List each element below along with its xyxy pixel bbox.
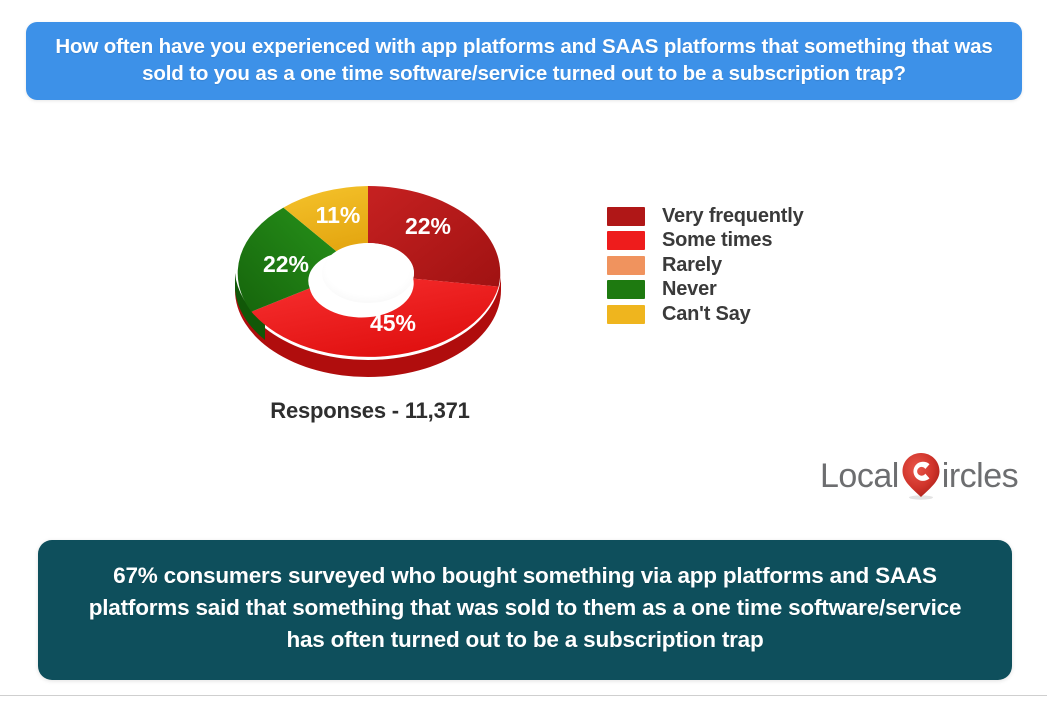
legend-label: Rarely [662, 254, 722, 277]
slice-label-never: 22% [263, 251, 309, 277]
legend-swatch-icon [607, 256, 645, 275]
slice-label-very-frequently: 22% [405, 213, 451, 239]
legend-label: Never [662, 278, 717, 301]
legend-item-rarely: Rarely [607, 253, 804, 278]
legend-label: Some times [662, 229, 772, 252]
legend-label: Can't Say [662, 303, 751, 326]
legend-swatch-icon [607, 280, 645, 299]
donut-hole [322, 243, 414, 303]
legend-swatch-icon [607, 231, 645, 250]
conclusion-text: 67% consumers surveyed who bought someth… [72, 560, 978, 656]
bottom-divider [0, 695, 1047, 696]
question-text: How often have you experienced with app … [48, 33, 1000, 88]
map-pin-c-icon [901, 452, 941, 500]
infographic-page: How often have you experienced with app … [0, 0, 1047, 702]
logo-text-local: Local [820, 459, 899, 493]
logo-text-ircles: ircles [942, 459, 1018, 493]
conclusion-banner: 67% consumers surveyed who bought someth… [38, 540, 1012, 680]
responses-count: Responses - 11,371 [180, 398, 560, 424]
legend-item-very-frequently: Very frequently [607, 204, 804, 229]
legend-item-some-times: Some times [607, 229, 804, 254]
legend-item-never: Never [607, 278, 804, 303]
localcircles-logo: Local ircles [820, 452, 1018, 500]
question-banner: How often have you experienced with app … [26, 22, 1022, 100]
legend-swatch-icon [607, 305, 645, 324]
legend-item-cant-say: Can't Say [607, 302, 804, 327]
slice-label-cant-say: 11% [316, 202, 361, 228]
legend-label: Very frequently [662, 205, 804, 228]
slice-label-some-times: 45% [370, 310, 416, 336]
legend-swatch-icon [607, 207, 645, 226]
donut-chart: 22% 45% 22% 11% [225, 160, 515, 385]
donut-chart-svg: 22% 45% 22% 11% [225, 160, 515, 385]
chart-legend: Very frequently Some times Rarely Never … [607, 204, 804, 327]
